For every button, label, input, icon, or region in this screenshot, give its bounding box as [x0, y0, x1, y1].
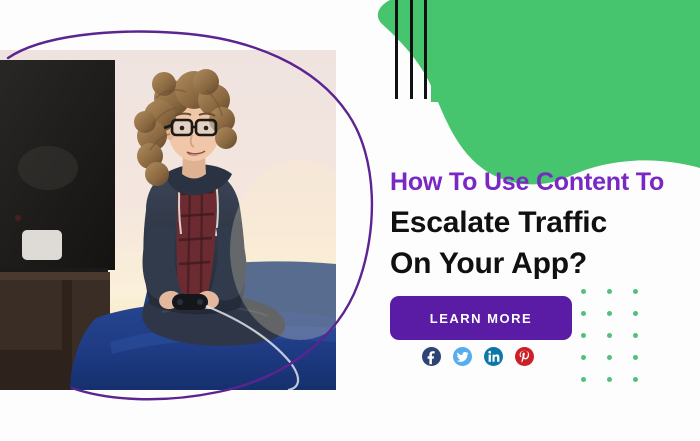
grid-dot — [607, 289, 612, 294]
grid-dot — [633, 355, 638, 360]
grid-dot — [607, 333, 612, 338]
grid-dot — [581, 377, 586, 382]
dot-grid — [581, 289, 659, 399]
grid-dot — [633, 289, 638, 294]
headline-line-2: Escalate Traffic — [390, 202, 690, 243]
vertical-line — [395, 0, 398, 99]
grid-dot — [581, 333, 586, 338]
promo-banner: How To Use Content To Escalate Traffic O… — [0, 0, 700, 441]
grid-dot — [581, 355, 586, 360]
facebook-icon[interactable] — [422, 347, 441, 366]
vertical-lines-decoration — [395, 0, 427, 99]
vertical-line — [410, 0, 413, 99]
headline: How To Use Content To Escalate Traffic O… — [390, 163, 690, 284]
grid-dot — [633, 377, 638, 382]
vertical-line — [424, 0, 427, 99]
learn-more-button[interactable]: LEARN MORE — [390, 296, 572, 340]
grid-dot — [607, 355, 612, 360]
green-quarter-circle — [431, 70, 463, 102]
pinterest-icon[interactable] — [515, 347, 534, 366]
headline-line-1: How To Use Content To — [390, 163, 690, 202]
grid-dot — [607, 311, 612, 316]
grid-dot — [607, 377, 612, 382]
social-links — [422, 347, 534, 366]
hero-photo — [0, 50, 336, 390]
linkedin-icon[interactable] — [484, 347, 503, 366]
grid-dot — [633, 333, 638, 338]
headline-line-3: On Your App? — [390, 243, 690, 284]
grid-dot — [581, 311, 586, 316]
twitter-icon[interactable] — [453, 347, 472, 366]
grid-dot — [633, 311, 638, 316]
grid-dot — [581, 289, 586, 294]
